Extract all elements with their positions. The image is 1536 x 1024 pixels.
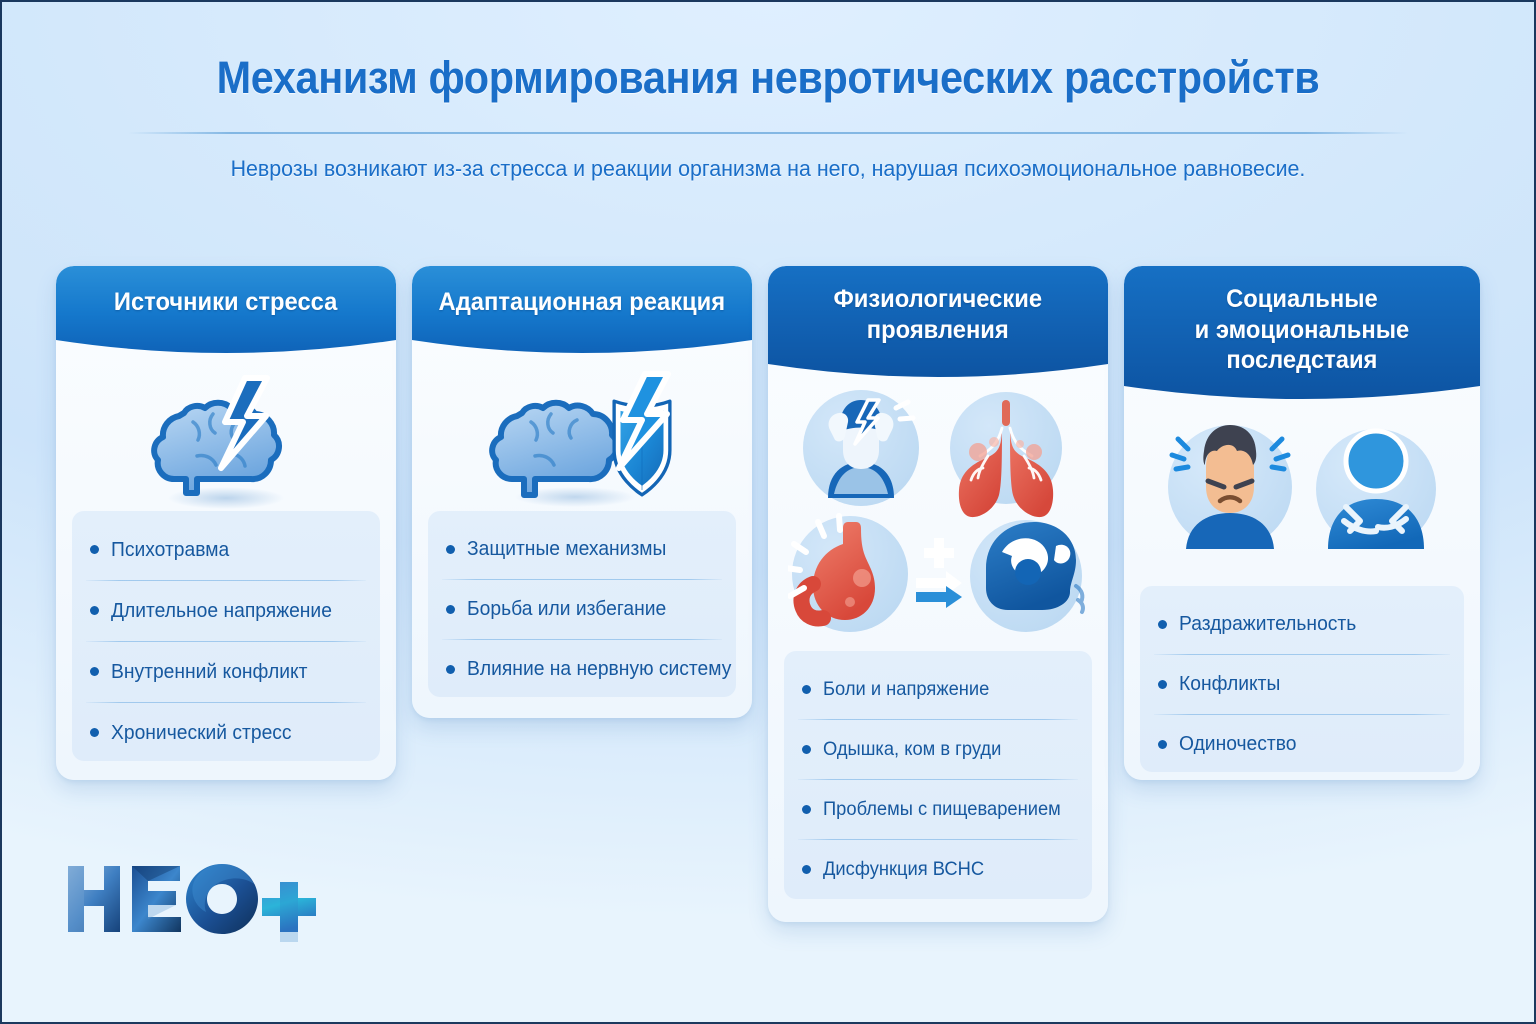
card-header: Адаптационная реакция — [412, 266, 752, 358]
card-list: Защитные механизмы Борьба или избегание … — [428, 511, 736, 697]
list-item-label: Одышка, ком в груди — [823, 738, 1001, 761]
card-social-emotional[interactable]: Социальные и эмоциональные последстаия — [1124, 266, 1480, 780]
bullet-icon — [802, 805, 811, 814]
list-item[interactable]: Внутренний конфликт — [72, 641, 380, 702]
bullet-icon — [802, 745, 811, 754]
card-title: Социальные и эмоциональные последстаия — [1185, 266, 1419, 376]
bullet-icon — [446, 605, 455, 614]
infographic-canvas: Механизм формирования невротических расс… — [0, 0, 1536, 1024]
card-title: Адаптационная реакция — [429, 266, 735, 318]
list-item-label: Боли и напряжение — [823, 678, 989, 701]
bullet-icon — [90, 545, 99, 554]
list-item-label: Раздражительность — [1179, 612, 1356, 636]
list-item[interactable]: Одиночество — [1140, 714, 1464, 774]
bullet-icon — [446, 665, 455, 674]
list-item-label: Одиночество — [1179, 732, 1296, 756]
brain-shield-lightning-icon — [412, 364, 752, 514]
list-item-label: Длительное напряжение — [111, 599, 332, 623]
bullet-icon — [1158, 620, 1167, 629]
list-item-label: Защитные механизмы — [467, 537, 666, 561]
bullet-icon — [1158, 740, 1167, 749]
list-item[interactable]: Борьба или избегание — [428, 579, 736, 639]
page-subtitle: Неврозы возникают из-за стресса и реакци… — [38, 156, 1497, 182]
list-item-label: Конфликты — [1179, 672, 1280, 696]
card-list: Раздражительность Конфликты Одиночество — [1140, 586, 1464, 772]
list-item[interactable]: Боли и напряжение — [784, 659, 1092, 719]
list-item[interactable]: Влияние на нервную систему — [428, 639, 736, 699]
list-item[interactable]: Проблемы с пищеварением — [784, 779, 1092, 839]
list-item[interactable]: Конфликты — [1140, 654, 1464, 714]
card-physiological-signs[interactable]: Физиологические проявления — [768, 266, 1108, 922]
brain-lightning-icon — [56, 364, 396, 514]
card-header: Источники стресса — [56, 266, 396, 358]
card-adaptive-response[interactable]: Адаптационная реакция — [412, 266, 752, 718]
bullet-icon — [90, 667, 99, 676]
bullet-icon — [1158, 680, 1167, 689]
bullet-icon — [802, 685, 811, 694]
list-item[interactable]: Психотравма — [72, 519, 380, 580]
bullet-icon — [446, 545, 455, 554]
bullet-icon — [90, 728, 99, 737]
card-stress-sources[interactable]: Источники стресса — [56, 266, 396, 780]
list-item[interactable]: Одышка, ком в груди — [784, 719, 1092, 779]
page-header: Механизм формирования невротических расс… — [0, 52, 1536, 182]
list-item[interactable]: Хронический стресс — [72, 702, 380, 763]
list-item[interactable]: Дисфункция ВСНС — [784, 839, 1092, 899]
card-list: Боли и напряжение Одышка, ком в груди Пр… — [784, 651, 1092, 899]
list-item-label: Проблемы с пищеварением — [823, 798, 1061, 821]
list-item[interactable]: Защитные механизмы — [428, 519, 736, 579]
list-item-label: Психотравма — [111, 538, 229, 562]
list-item-label: Внутренний конфликт — [111, 660, 307, 684]
list-item-label: Дисфункция ВСНС — [823, 858, 984, 881]
card-list: Психотравма Длительное напряжение Внутре… — [72, 511, 380, 761]
list-item-label: Борьба или избегание — [467, 597, 666, 621]
page-title: Механизм формирования невротических расс… — [61, 52, 1474, 104]
title-divider — [128, 132, 1408, 134]
bullet-icon — [90, 606, 99, 615]
physiology-icons — [768, 386, 1108, 634]
list-item-label: Хронический стресс — [111, 721, 292, 745]
bullet-icon — [802, 865, 811, 874]
card-title: Физиологические проявления — [824, 266, 1052, 345]
list-item[interactable]: Длительное напряжение — [72, 580, 380, 641]
card-title: Источники стресса — [105, 266, 348, 318]
list-item[interactable]: Раздражительность — [1140, 594, 1464, 654]
social-emotional-icons — [1124, 408, 1480, 563]
card-header: Социальные и эмоциональные последстаия — [1124, 266, 1480, 406]
card-header: Физиологические проявления — [768, 266, 1108, 384]
brand-logo[interactable] — [66, 856, 326, 942]
list-item-label: Влияние на нервную систему — [467, 657, 731, 681]
